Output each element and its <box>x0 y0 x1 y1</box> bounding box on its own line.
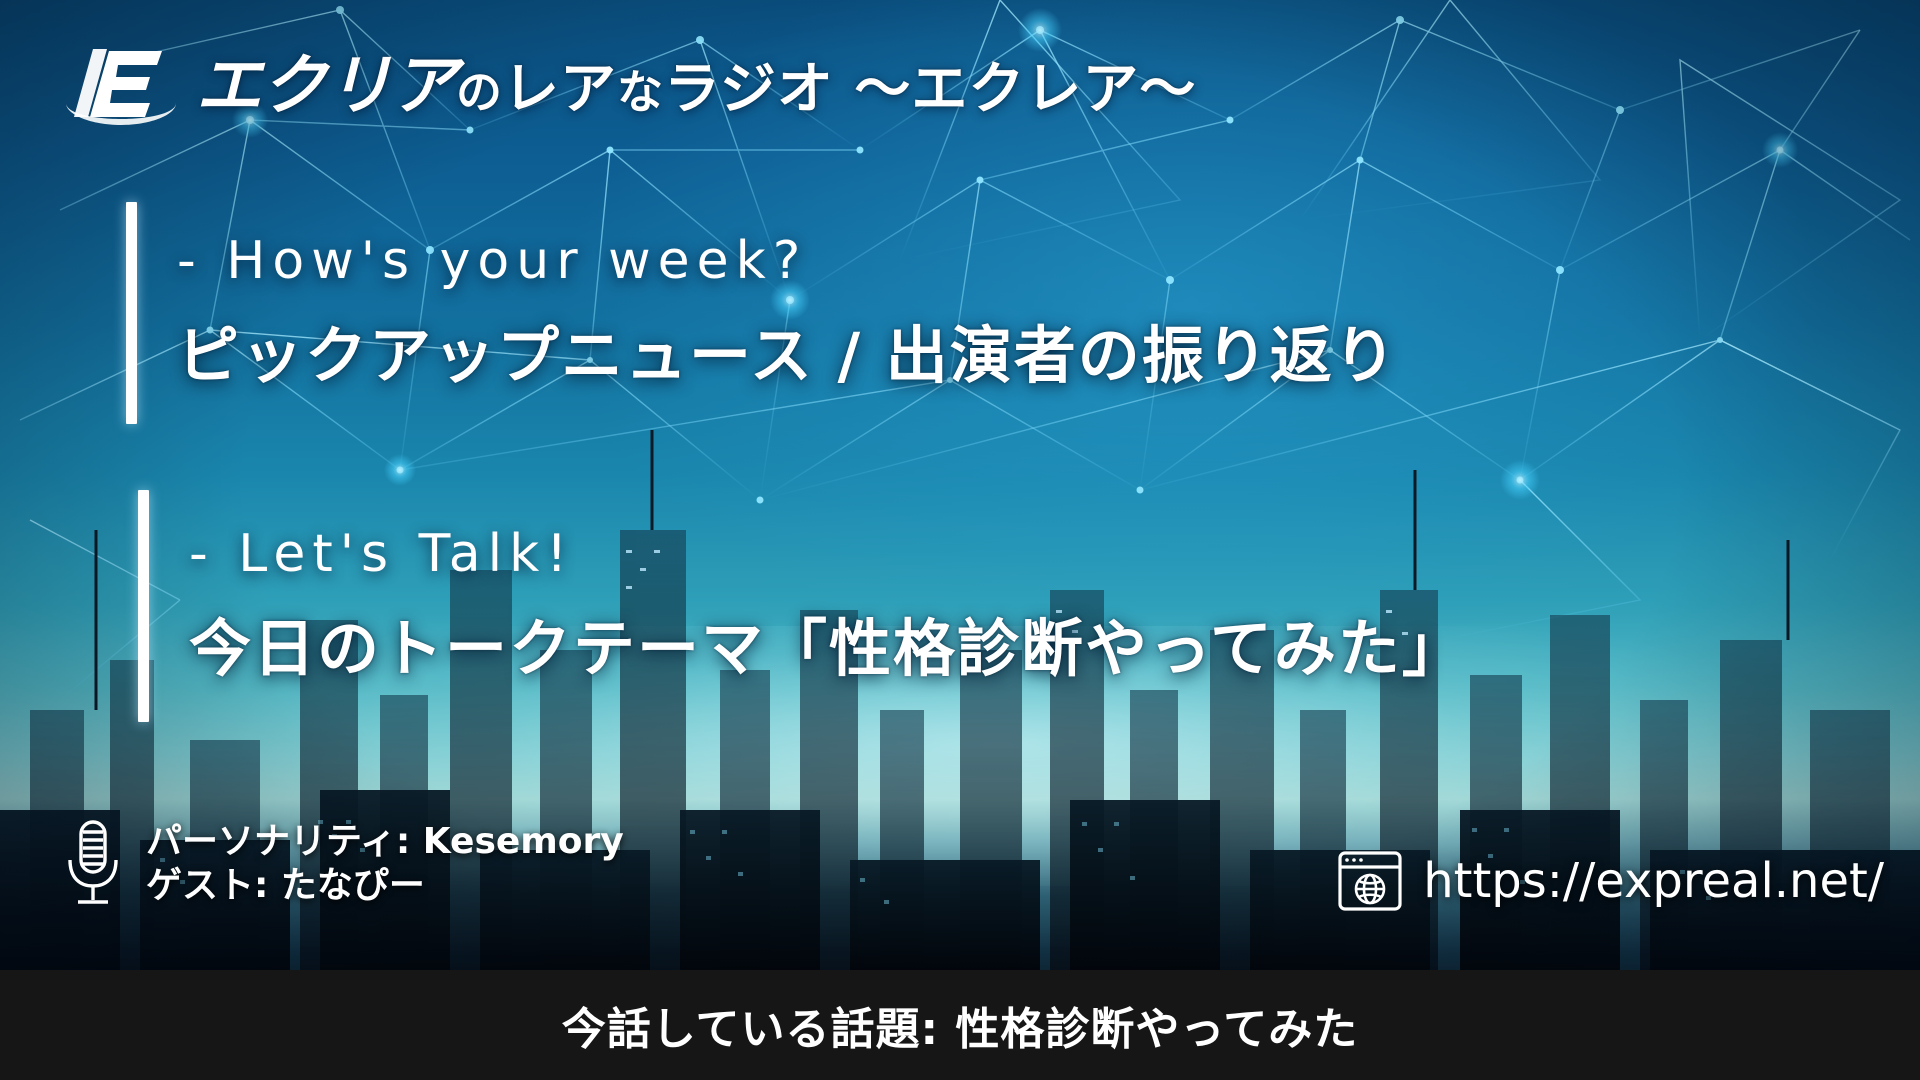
globe-browser-icon <box>1337 850 1403 912</box>
microphone-icon <box>62 816 124 912</box>
broadcast-overlay-screen: エクリアのレアなラジオ 〜エクレア〜 - How's your week? ピッ… <box>0 0 1920 1080</box>
show-title-na: な <box>617 65 664 119</box>
segment-1-english-heading: - How's your week? <box>177 231 1398 291</box>
eclair-e-logo-icon <box>62 43 180 129</box>
segment-accent-bar <box>138 490 149 722</box>
segment-1-japanese-subtitle: ピックアップニュース / 出演者の振り返り <box>177 305 1398 395</box>
segment-2-japanese-subtitle: 今日のトークテーマ「性格診断やってみた」 <box>189 598 1466 688</box>
site-url-text[interactable]: https://expreal.net/ <box>1423 853 1884 909</box>
current-topic-text: 今話している話題: 性格診断やってみた <box>562 993 1358 1057</box>
show-title-spacer <box>834 57 855 122</box>
segment-block-2: - Let's Talk! 今日のトークテーマ「性格診断やってみた」 <box>138 490 1466 722</box>
segment-2-english-heading: - Let's Talk! <box>189 524 1466 584</box>
show-title-rare: レア <box>503 57 617 122</box>
personality-credit: パーソナリティ: Kesemory <box>146 820 624 864</box>
show-title-nickname: 〜エクレア〜 <box>854 57 1196 122</box>
guest-credit: ゲスト: たなぴー <box>146 864 624 908</box>
website-link[interactable]: https://expreal.net/ <box>1337 850 1884 912</box>
show-title: エクリアのレアなラジオ 〜エクレア〜 <box>196 53 1196 119</box>
show-header: エクリアのレアなラジオ 〜エクレア〜 <box>62 38 1196 134</box>
current-topic-bar: 今話している話題: 性格診断やってみた <box>0 970 1920 1080</box>
cast-credits: パーソナリティ: Kesemory ゲスト: たなぴー <box>62 816 624 912</box>
segment-accent-bar <box>126 202 137 424</box>
show-title-radio: ラジオ <box>664 57 834 122</box>
show-title-main: エクリア <box>196 47 456 124</box>
show-title-particle: の <box>456 65 503 119</box>
segment-block-1: - How's your week? ピックアップニュース / 出演者の振り返り <box>126 202 1398 424</box>
